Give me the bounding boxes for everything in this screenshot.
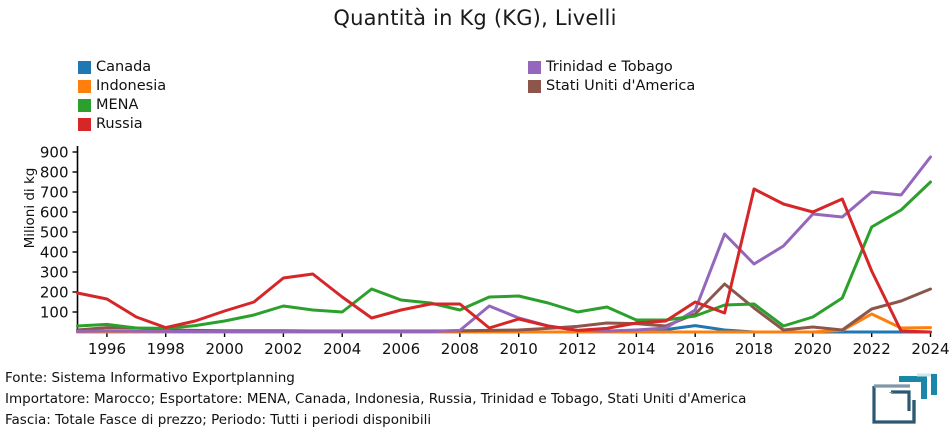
x-tick-label: 2018 bbox=[735, 340, 773, 358]
x-tick-label: 1996 bbox=[88, 340, 126, 358]
y-tick-label: 200 bbox=[40, 284, 69, 302]
x-tick-label: 1998 bbox=[147, 340, 185, 358]
footer: Fonte: Sistema Informativo Exportplannin… bbox=[5, 368, 865, 431]
series-line bbox=[78, 157, 931, 332]
y-tick-label: 900 bbox=[40, 144, 69, 162]
plot-area: Milioni di kg 10020030040050060070080090… bbox=[0, 0, 950, 360]
series-lines bbox=[78, 157, 931, 332]
y-tick-label: 300 bbox=[40, 264, 69, 282]
x-axis-ticks: 1996199820002002200420062008201020122014… bbox=[88, 332, 950, 358]
footer-source: Fonte: Sistema Informativo Exportplannin… bbox=[5, 368, 865, 389]
y-tick-label: 500 bbox=[40, 224, 69, 242]
y-tick-label: 700 bbox=[40, 184, 69, 202]
footer-importer-exporter: Importatore: Marocco; Esportatore: MENA,… bbox=[5, 389, 865, 410]
chart-svg: 1002003004005006007008009001996199820002… bbox=[0, 0, 950, 360]
exportplanning-logo bbox=[862, 372, 944, 430]
chart-page: Quantità in Kg (KG), Livelli CanadaIndon… bbox=[0, 0, 950, 435]
axis-spines bbox=[78, 146, 931, 332]
x-tick-label: 2024 bbox=[911, 340, 949, 358]
x-tick-label: 2012 bbox=[558, 340, 596, 358]
y-tick-label: 100 bbox=[40, 304, 69, 322]
footer-band-period: Fascia: Totale Fasce di prezzo; Periodo:… bbox=[5, 410, 865, 431]
x-tick-label: 2008 bbox=[441, 340, 479, 358]
x-tick-label: 2004 bbox=[323, 340, 361, 358]
series-line bbox=[78, 182, 931, 328]
x-tick-label: 2014 bbox=[617, 340, 655, 358]
y-tick-label: 400 bbox=[40, 244, 69, 262]
y-tick-label: 600 bbox=[40, 204, 69, 222]
logo-icon bbox=[862, 372, 944, 430]
x-tick-label: 2006 bbox=[382, 340, 420, 358]
y-axis-ticks: 100200300400500600700800900 bbox=[40, 144, 78, 322]
x-tick-label: 2000 bbox=[205, 340, 243, 358]
x-tick-label: 2010 bbox=[500, 340, 538, 358]
y-tick-label: 800 bbox=[40, 164, 69, 182]
x-tick-label: 2016 bbox=[676, 340, 714, 358]
x-tick-label: 2020 bbox=[794, 340, 832, 358]
x-tick-label: 2022 bbox=[853, 340, 891, 358]
x-tick-label: 2002 bbox=[264, 340, 302, 358]
